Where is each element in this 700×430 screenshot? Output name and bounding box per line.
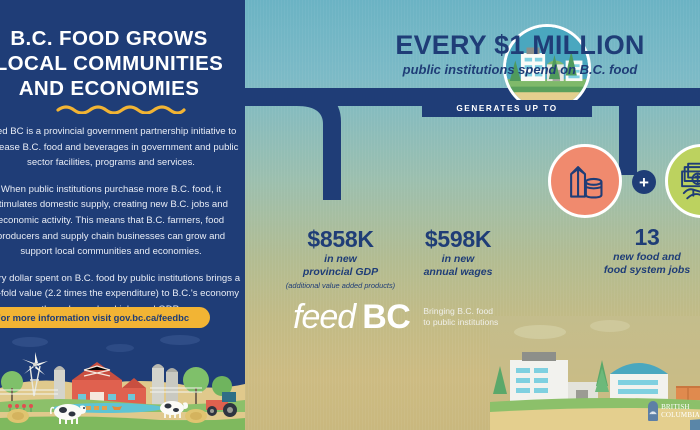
logo-tagline-line2: to public institutions [423, 317, 498, 329]
more-information-link[interactable]: For more information visit gov.bc.ca/fee… [0, 307, 210, 328]
stat-wages-label-line1: in new [388, 253, 528, 266]
bc-logo-text: BRITISH COLUMBIA [661, 403, 700, 420]
stat-wages-label: in new annual wages [388, 253, 528, 279]
infographic-root: + AND UP TO [0, 0, 700, 430]
bc-government-logo: BRITISH COLUMBIA [648, 396, 700, 426]
stat-jobs-label-line2: food system jobs [592, 264, 700, 277]
intro-paragraph-2: When public institutions purchase more B… [0, 182, 242, 260]
stat-annual-wages: $598K in new annual wages [388, 226, 528, 279]
headline: EVERY $1 MILLION [355, 30, 685, 60]
intro-paragraph-1: Feed BC is a provincial government partn… [0, 124, 242, 171]
farm-scene [0, 332, 245, 430]
intro-body: Feed BC is a provincial government partn… [0, 124, 242, 329]
logo-word-feed: feed [293, 300, 355, 334]
more-information-label: For more information visit gov.bc.ca/fee… [0, 312, 189, 323]
sun-crest-icon [648, 401, 658, 421]
feed-bc-logo: feed BC Bringing B.C. food to public ins… [293, 300, 498, 334]
stat-jobs-label: new food and food system jobs [592, 251, 700, 277]
page-title: B.C. FOOD GROWS LOCAL COMMUNITIES AND EC… [0, 26, 240, 101]
bc-logo-line1: BRITISH [661, 403, 700, 412]
generates-up-to-text: GENERATES UP TO [456, 104, 557, 113]
generates-up-to-banner: GENERATES UP TO [422, 100, 592, 117]
bc-crest-icon [648, 401, 658, 421]
stat-jobs: 13 new food and food system jobs [592, 224, 700, 277]
logo-word-bc: BC [362, 300, 410, 334]
left-panel: B.C. FOOD GROWS LOCAL COMMUNITIES AND EC… [0, 0, 245, 430]
squiggle-divider-icon [56, 104, 186, 114]
stat-jobs-value: 13 [592, 224, 700, 250]
stat-gdp-sub: (additional value added products) [268, 281, 413, 291]
logo-tagline-line1: Bringing B.C. food [423, 306, 498, 318]
bc-logo-line2: COLUMBIA [661, 411, 700, 420]
stat-wages-value: $598K [388, 226, 528, 252]
logo-tagline: Bringing B.C. food to public institution… [423, 306, 498, 329]
subheadline: public institutions spend on B.C. food [355, 62, 685, 77]
stat-wages-label-line2: annual wages [388, 266, 528, 279]
stat-jobs-label-line1: new food and [592, 251, 700, 264]
